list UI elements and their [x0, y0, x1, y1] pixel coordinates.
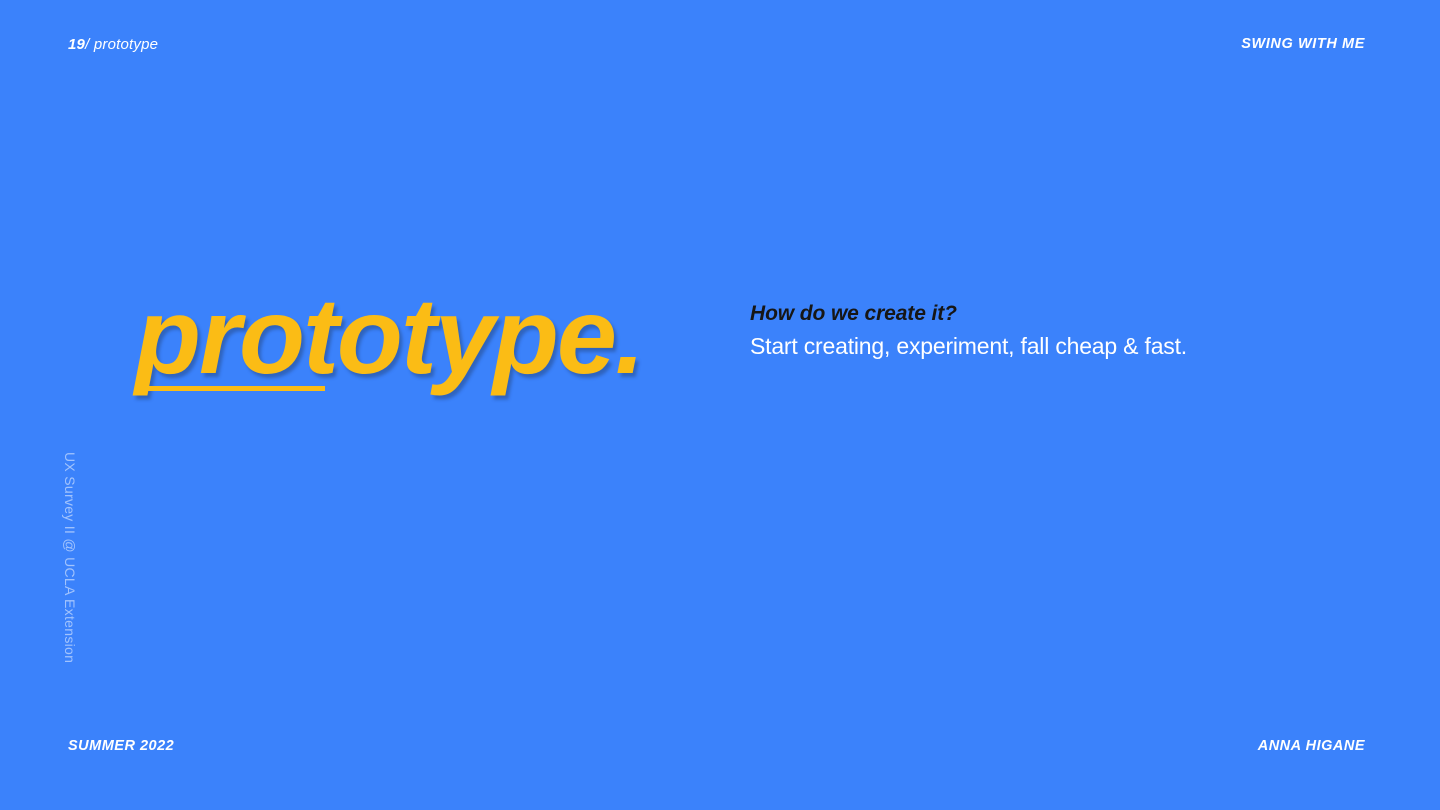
- presentation-slide: 19/ prototype SWING WITH ME UX Survey II…: [0, 0, 1440, 810]
- brand-label: SWING WITH ME: [1241, 36, 1365, 52]
- page-title: prototype.: [135, 282, 643, 390]
- question-heading: How do we create it?: [750, 300, 1350, 328]
- course-label-text: UX Survey II @ UCLA Extension: [62, 452, 78, 663]
- slide-number: 19: [68, 36, 85, 53]
- author-label: ANNA HIGANE: [1258, 738, 1365, 754]
- slide-header: 19/ prototype SWING WITH ME: [0, 0, 1440, 95]
- term-label: SUMMER 2022: [68, 738, 174, 754]
- main-title-block: prototype.: [135, 282, 695, 402]
- slide-number-label: 19/ prototype: [68, 36, 158, 53]
- slide-footer: SUMMER 2022 ANNA HIGANE: [0, 710, 1440, 810]
- course-side-label: UX Survey II @ UCLA Extension: [62, 452, 92, 682]
- answer-text: Start creating, experiment, fall cheap &…: [750, 332, 1350, 362]
- title-underline-bar: [135, 386, 325, 391]
- description-block: How do we create it? Start creating, exp…: [750, 300, 1350, 362]
- slide-section-title: / prototype: [85, 36, 158, 53]
